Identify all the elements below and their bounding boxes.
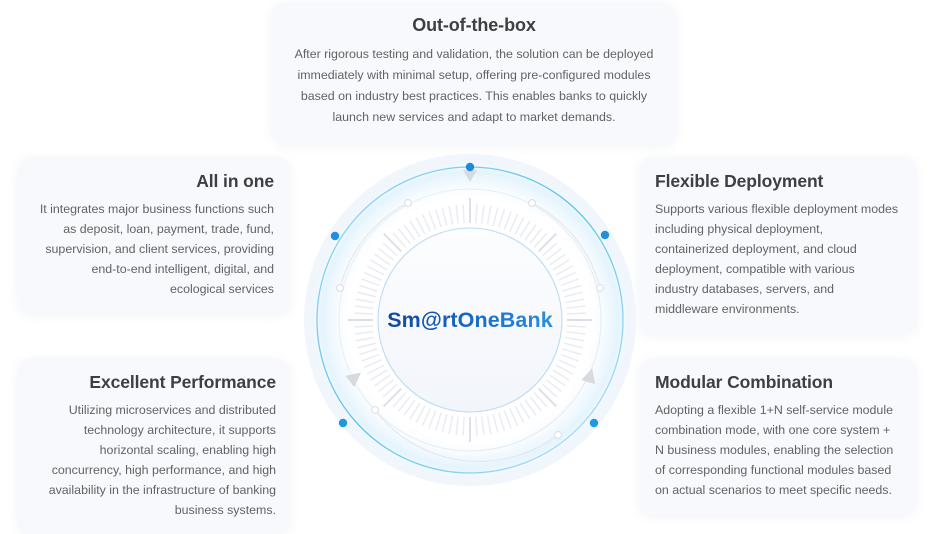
ring-node-top [466,163,474,171]
inner-circle [378,228,562,412]
ring-node-left [331,232,339,240]
circular-rings-svg [300,148,640,492]
feature-panel-all-in-one[interactable]: All in one It integrates major business … [18,157,290,313]
feature-panel-flexible-deployment[interactable]: Flexible Deployment Supports various fle… [639,157,916,334]
feature-title: Out-of-the-box [294,14,654,37]
feature-title: Modular Combination [655,371,900,394]
feature-description: Adopting a flexible 1+N self-service mod… [655,400,900,500]
ring-node-bottom-right [590,419,598,427]
feature-title: All in one [34,170,274,193]
feature-panel-modular-combination[interactable]: Modular Combination Adopting a flexible … [639,358,916,515]
feature-description: After rigorous testing and validation, t… [294,44,654,127]
feature-description: It integrates major business functions s… [34,199,274,299]
infographic-canvas: Out-of-the-box After rigorous testing an… [0,0,941,500]
center-circular-graphic: Sm@rtOneBank [300,148,640,492]
ring-node-right [601,231,609,239]
feature-title: Flexible Deployment [655,170,900,193]
feature-title: Excellent Performance [32,371,276,394]
ring-node-bottom-left [339,419,347,427]
feature-description: Supports various flexible deployment mod… [655,199,900,320]
feature-description: Utilizing microservices and distributed … [32,400,276,521]
feature-panel-excellent-performance[interactable]: Excellent Performance Utilizing microser… [18,358,290,534]
feature-panel-out-of-the-box[interactable]: Out-of-the-box After rigorous testing an… [272,2,676,144]
